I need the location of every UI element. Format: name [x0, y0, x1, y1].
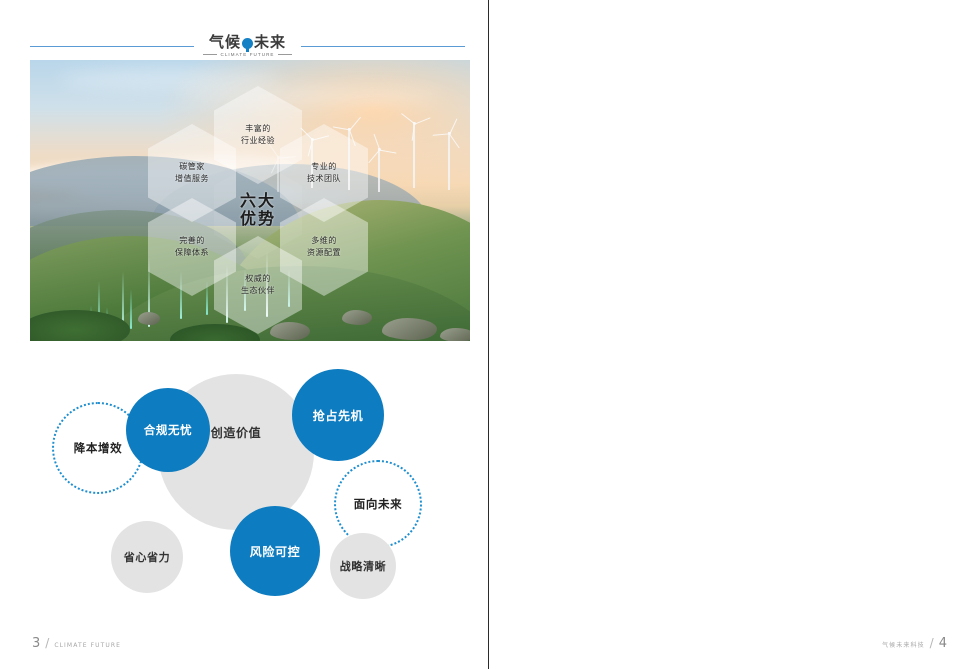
bubble-create-value-label: 创造价值 — [211, 424, 261, 441]
right-page: 气候 未来 CLIMATE FUTURE COMPANY FOUNDER 公司创… — [489, 0, 979, 669]
header-rule-left — [30, 46, 194, 47]
bubble-first-mover: 抢占先机 — [292, 369, 384, 461]
left-page-footer: 3 / CLIMATE FUTURE — [32, 636, 121, 651]
hexagon-0-line2: 行业经验 — [241, 135, 275, 147]
left-page-number: 3 — [32, 636, 40, 651]
bubble-clear-strategy-label: 战略清晰 — [340, 558, 386, 574]
brochure-spread: 气候 未来 CLIMATE FUTURE — [0, 0, 979, 669]
hexagon-center-line2: 优势 — [240, 210, 276, 228]
hexagon-1-line1: 专业的 — [311, 161, 337, 173]
bubble-clear-strategy: 战略清晰 — [330, 533, 396, 599]
hexagon-3-line2: 生态伙伴 — [241, 285, 275, 297]
hexagon-4-line1: 完善的 — [179, 235, 205, 247]
value-bubbles-diagram: 创造价值 降本增效 合规无忧 抢占先机 面向未来 省心省力 风险可控 战略清晰 — [30, 360, 470, 615]
logo-tagline: CLIMATE FUTURE — [203, 52, 291, 57]
hexagon-5-line2: 增值服务 — [175, 173, 209, 185]
brand-logo-left: 气候 未来 CLIMATE FUTURE — [194, 35, 300, 57]
left-footer-separator: / — [45, 636, 49, 650]
header-rule-left-2 — [301, 46, 465, 47]
hexagon-5-line1: 碳管家 — [179, 161, 205, 173]
bubble-first-mover-label: 抢占先机 — [313, 407, 363, 424]
bubble-compliance: 合规无忧 — [126, 388, 210, 472]
logo-wordmark: 气候 未来 — [209, 35, 286, 50]
hexagon-0-line1: 丰富的 — [245, 123, 271, 135]
bubble-future-oriented: 面向未来 — [334, 460, 422, 548]
bubble-cost-efficiency-label: 降本增效 — [74, 440, 122, 456]
left-page-header: 气候 未来 CLIMATE FUTURE — [30, 34, 465, 58]
hexagon-2-line1: 多维的 — [311, 235, 337, 247]
bubble-risk-control-label: 风险可控 — [250, 543, 300, 560]
logo-droplet-icon — [242, 38, 253, 49]
right-page-number: 4 — [939, 636, 947, 651]
logo-text-left: 气候 — [209, 35, 241, 50]
hexagon-4-line2: 保障体系 — [175, 247, 209, 259]
bubble-compliance-label: 合规无忧 — [144, 422, 192, 438]
right-footer-text: 气候未来科技 — [882, 640, 925, 649]
hexagon-3-line1: 权威的 — [245, 273, 271, 285]
hexagon-1-line2: 技术团队 — [307, 173, 341, 185]
bubble-worry-free: 省心省力 — [111, 521, 183, 593]
right-footer-separator: / — [930, 636, 934, 650]
hero-landscape-image: 丰富的 行业经验 专业的 技术团队 多维的 资源配置 权威的 生态伙伴 完善的 — [30, 60, 470, 341]
right-page-footer: 气候未来科技 / 4 — [882, 636, 947, 651]
left-page: 气候 未来 CLIMATE FUTURE — [0, 0, 489, 669]
hexagon-2-line2: 资源配置 — [307, 247, 341, 259]
hexagon-advantages-diagram: 丰富的 行业经验 专业的 技术团队 多维的 资源配置 权威的 生态伙伴 完善的 — [30, 60, 470, 341]
left-footer-text: CLIMATE FUTURE — [54, 642, 121, 649]
bubble-future-oriented-label: 面向未来 — [354, 496, 402, 512]
logo-text-right: 未来 — [254, 35, 286, 50]
bubble-worry-free-label: 省心省力 — [124, 549, 170, 565]
bubble-risk-control: 风险可控 — [230, 506, 320, 596]
hexagon-center-line1: 六大 — [240, 192, 276, 210]
